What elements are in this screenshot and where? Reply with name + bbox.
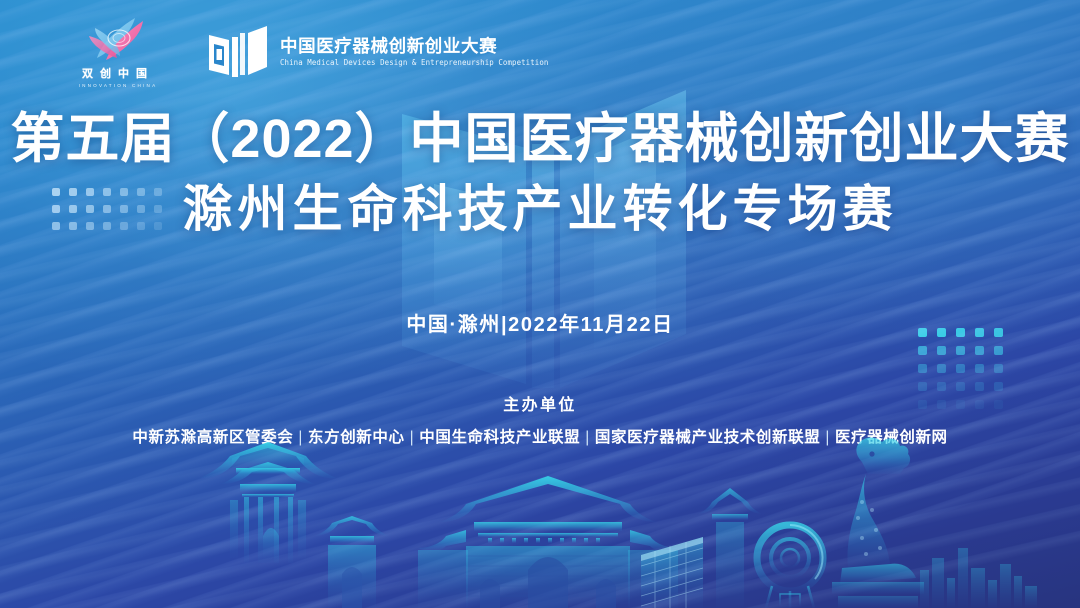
modern-office-building: [641, 537, 703, 608]
organizer-separator: |: [298, 429, 303, 446]
innovation-logo-en-text: INNOVATION CHINA: [79, 83, 158, 88]
competition-logo: 中国医疗器械创新创业大赛 China Medical Devices Desig…: [207, 25, 548, 79]
organizer-name: 中新苏滁高新区管委会: [132, 429, 293, 446]
competition-logo-en-text: China Medical Devices Design & Entrepren…: [280, 58, 548, 67]
open-door-icon: [207, 25, 269, 79]
innovation-china-logo: 双创中国 INNOVATION CHINA: [62, 16, 174, 88]
organizer-name: 医疗器械创新网: [835, 429, 948, 446]
city-skyline-far-right: [920, 548, 1037, 608]
organizer-name: 东方创新中心: [308, 429, 405, 446]
office-tower: [640, 534, 706, 608]
title-block: 第五届（2022）中国医疗器械创新创业大赛 滁州生命科技产业转化专场赛: [0, 108, 1080, 240]
building-tower: [640, 534, 704, 608]
organizer-label: 主办单位: [0, 391, 1080, 415]
organizer-list: 中新苏滁高新区管委会|东方创新中心|中国生命科技产业联盟|国家医疗器械产业技术创…: [0, 425, 1080, 447]
modern-office-tower: [640, 536, 700, 608]
chinese-pavilion: [200, 442, 336, 563]
chinese-gate-tower: [315, 516, 389, 608]
tower-block: [638, 530, 706, 608]
modern-office-tower-main: [638, 530, 706, 608]
main-title-line-1: 第五届（2022）中国医疗器械创新创业大赛: [0, 108, 1080, 172]
innovation-logo-cn-text: 双创中国: [82, 65, 154, 81]
office-building: [638, 533, 702, 608]
merlion-statue: [832, 438, 924, 608]
organizer-name: 中国生命科技产业联盟: [419, 429, 580, 446]
organizer-separator: |: [585, 429, 590, 446]
modern-building: [640, 536, 700, 608]
logo-divider: [190, 25, 191, 79]
poster-header: 双创中国 INNOVATION CHINA 中国医疗器械创新创业大赛 China…: [0, 0, 1080, 104]
bird-icon: [75, 16, 161, 62]
main-title-line-2: 滁州生命科技产业转化专场赛: [0, 178, 1080, 241]
ring-sculpture: [757, 525, 823, 608]
organizer-name: 国家医疗器械产业技术创新联盟: [595, 429, 820, 446]
event-poster: 双创中国 INNOVATION CHINA 中国医疗器械创新创业大赛 China…: [0, 0, 1080, 608]
chinese-archway-small: [698, 488, 762, 608]
event-date-location: 中国·滁州|2022年11月22日: [0, 308, 1080, 337]
high-rise: [640, 536, 700, 608]
organizer-separator: |: [825, 429, 830, 446]
modern-tower-final: [640, 536, 702, 608]
skyscraper: [640, 536, 702, 608]
office-tower-real: [638, 532, 704, 608]
competition-logo-cn-text: 中国医疗器械创新创业大赛: [280, 37, 548, 55]
tower: [640, 536, 704, 608]
chinese-archway: [418, 476, 678, 608]
organizer-separator: |: [410, 429, 415, 446]
